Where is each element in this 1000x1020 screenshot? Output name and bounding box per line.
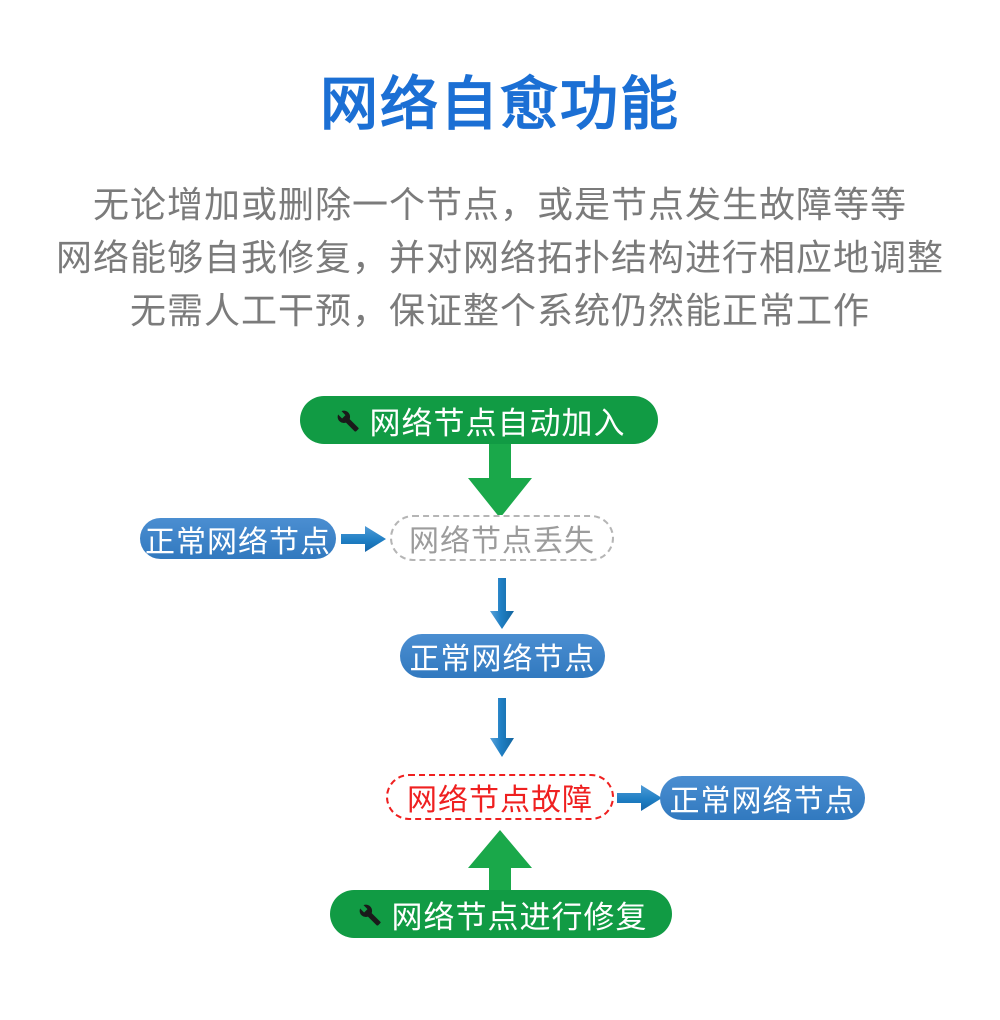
node-normal-network-node-right[interactable]: 正常网络节点 [660,776,865,820]
arrow-lost-to-normal-mid [489,578,515,630]
wrench-icon [333,406,361,434]
network-self-healing-diagram: 网络节点自动加入 正常网络节点 网络节点丢失 正常网 [0,0,1000,1020]
node-label: 网络节点进行修复 [392,892,648,937]
node-network-node-auto-join[interactable]: 网络节点自动加入 [300,396,658,444]
node-normal-network-node-left[interactable]: 正常网络节点 [140,518,336,559]
node-label: 网络节点故障 [407,775,593,819]
node-label: 正常网络节点 [145,517,331,561]
arrow-normal-mid-to-fault [489,698,515,758]
node-label: 网络节点自动加入 [370,398,626,443]
arrow-normal-left-to-lost [341,525,387,553]
arrow-join-to-lost [462,438,538,520]
node-label: 网络节点丢失 [409,516,595,560]
node-network-node-fault[interactable]: 网络节点故障 [386,774,614,820]
node-label: 正常网络节点 [670,776,856,820]
arrow-fault-to-normal-right [617,784,663,812]
node-normal-network-node-middle[interactable]: 正常网络节点 [400,634,605,678]
node-network-node-repair[interactable]: 网络节点进行修复 [330,890,672,938]
wrench-icon [355,900,383,928]
node-network-node-lost[interactable]: 网络节点丢失 [390,515,614,561]
node-label: 正常网络节点 [410,634,596,678]
